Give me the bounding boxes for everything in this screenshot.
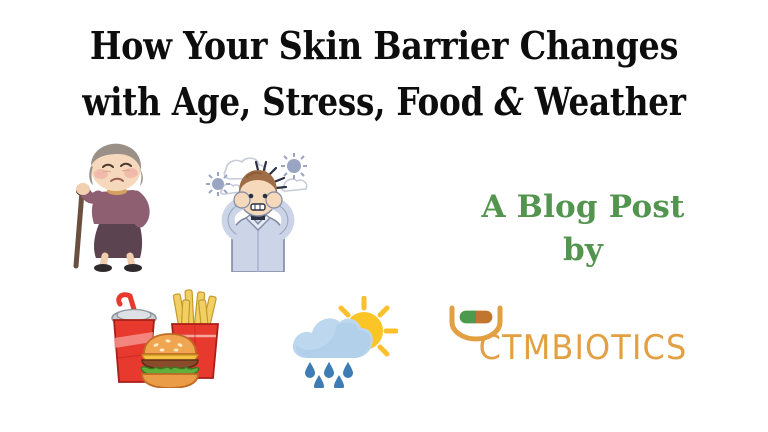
- sun-behind-rain-cloud-illustration: [286, 296, 398, 388]
- brand-wordmark: CTMBIOTICS: [428, 328, 738, 368]
- blog-cover-canvas: How Your Skin Barrier Changes with Age, …: [0, 0, 768, 432]
- brand-logo: CTMBIOTICS: [418, 300, 748, 370]
- byline-blog-post-label: A Blog Post: [481, 189, 684, 225]
- byline-block: A Blog Post by: [418, 186, 748, 272]
- title-line-2-part-b: Weather: [524, 79, 686, 124]
- elderly-woman-with-cane-illustration: [58, 140, 168, 272]
- page-title: How Your Skin Barrier Changes with Age, …: [0, 18, 768, 130]
- fast-food-burger-fries-soda-illustration: [100, 286, 232, 388]
- byline-by-label: by: [418, 229, 748, 272]
- title-line-2: with Age, Stress, Food & Weather: [54, 74, 714, 130]
- ampersand-glyph: &: [494, 79, 523, 124]
- stressed-man-holding-head-illustration: [196, 148, 320, 272]
- title-line-1: How Your Skin Barrier Changes: [46, 18, 722, 74]
- title-line-2-part-a: with Age, Stress, Food: [82, 79, 494, 124]
